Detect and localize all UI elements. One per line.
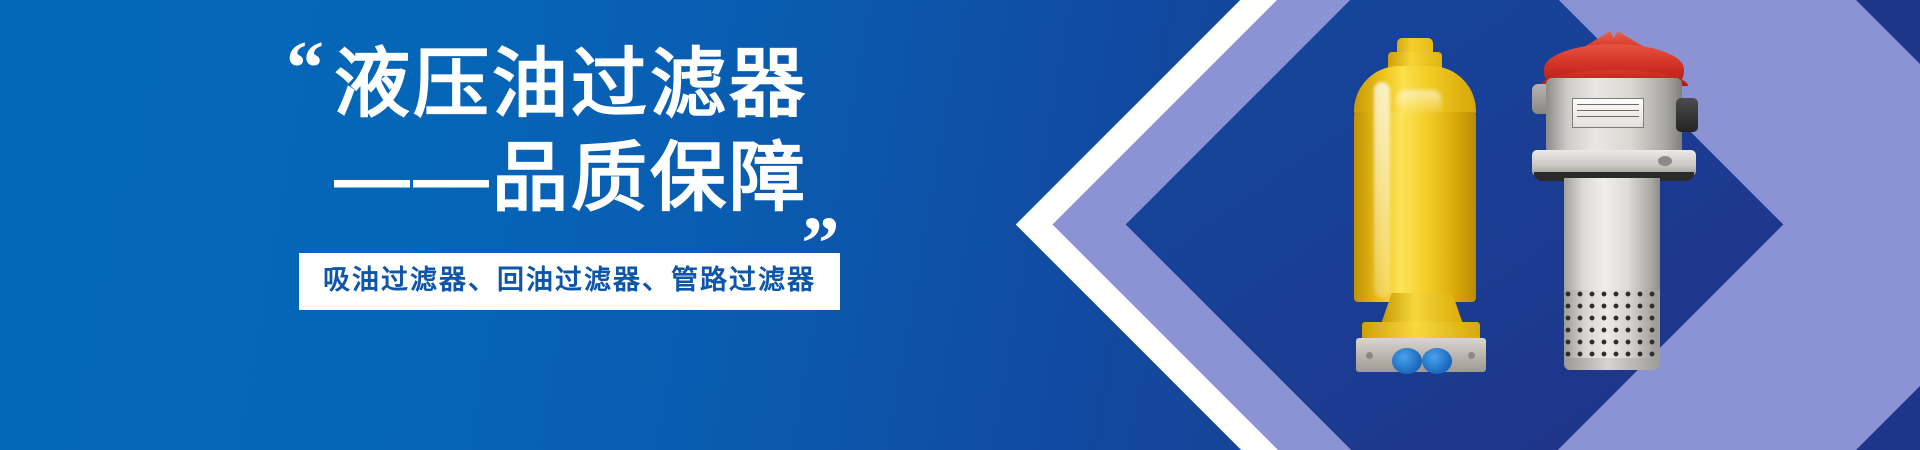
headline-block: “ 液压油过滤器 ——品质保障 „ 吸油过滤器、回油过滤器、管路过滤器 [0, 0, 900, 450]
filter-highlight [1374, 82, 1390, 297]
filter-highlight-secondary [1396, 90, 1442, 116]
subtitle-text: 吸油过滤器、回油过滤器、管路过滤器 [323, 266, 816, 296]
filter-element-tube [1564, 178, 1660, 294]
filter-indicator-knob [1676, 98, 1698, 132]
return-filter-gray-image [1530, 22, 1715, 352]
filter-base-block [1356, 338, 1486, 372]
filter-port-outlet [1422, 348, 1452, 374]
filter-spec-label [1572, 98, 1644, 128]
filter-body [1354, 112, 1476, 302]
filter-flange-hole [1658, 156, 1672, 166]
quote-close-icon: „ [802, 166, 838, 242]
subtitle-box: 吸油过滤器、回油过滤器、管路过滤器 [299, 253, 840, 310]
filter-perforated-screen [1564, 290, 1660, 364]
headline-line-1: 液压油过滤器 [334, 46, 808, 124]
suction-filter-yellow-image [1340, 38, 1490, 338]
filter-bolt [1366, 352, 1373, 359]
filter-end-cap [1564, 358, 1660, 370]
headline-line-2: ——品质保障 [334, 140, 804, 218]
product-images [1040, 0, 1920, 450]
promo-banner: “ 液压油过滤器 ——品质保障 „ 吸油过滤器、回油过滤器、管路过滤器 [0, 0, 1920, 450]
quote-open-icon: “ [286, 30, 322, 106]
filter-bolt [1468, 352, 1475, 359]
filter-port-inlet [1392, 348, 1422, 374]
